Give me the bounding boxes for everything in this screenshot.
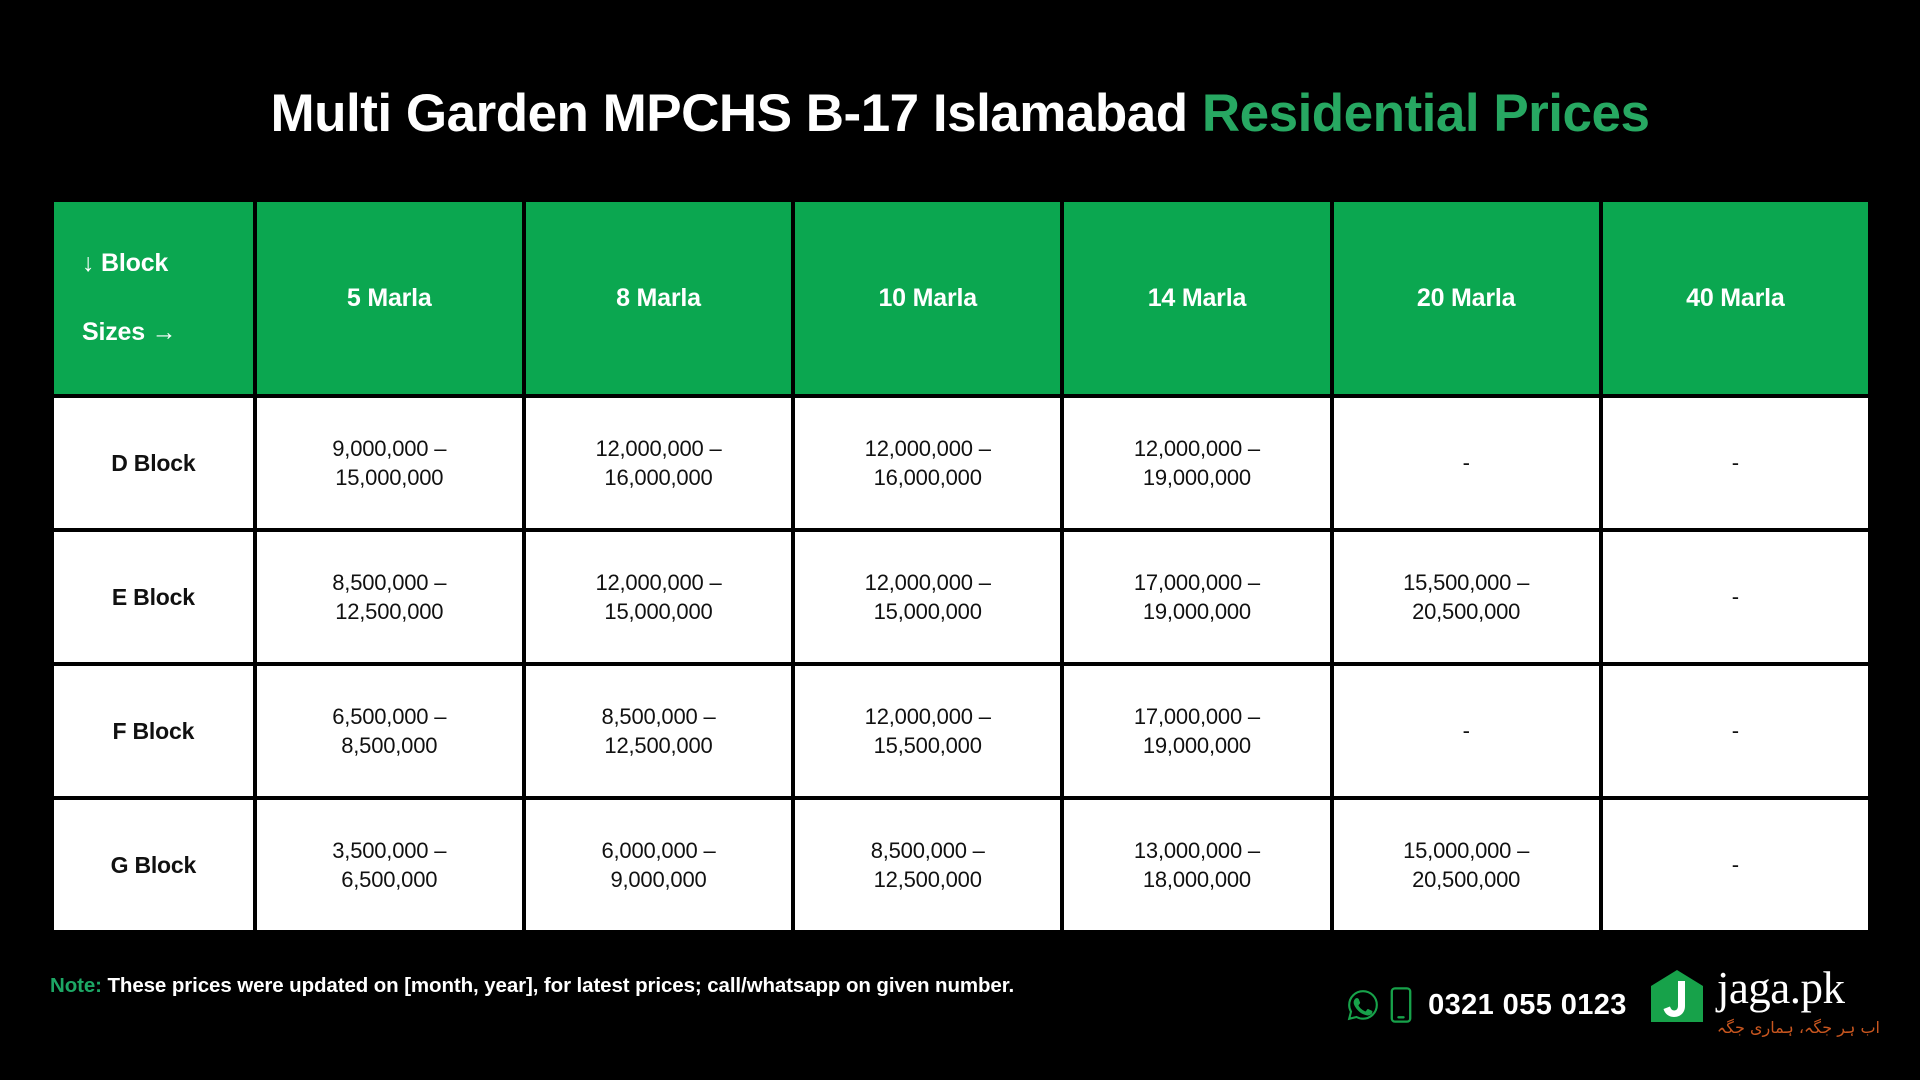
price-low: 12,000,000 –	[801, 434, 1054, 463]
price-cell: 12,000,000 –15,000,000	[526, 532, 791, 662]
poster-root: Multi Garden MPCHS B-17 Islamabad Reside…	[0, 0, 1920, 1080]
page-title: Multi Garden MPCHS B-17 Islamabad Reside…	[0, 84, 1920, 145]
header-cell-10-marla: 10 Marla	[795, 202, 1060, 394]
price-cell: 9,000,000 –15,000,000	[257, 398, 522, 528]
price-low: -	[1340, 448, 1593, 477]
price-cell: -	[1603, 800, 1868, 930]
price-low: 17,000,000 –	[1070, 702, 1323, 731]
price-high: 8,500,000	[263, 731, 516, 760]
price-cell: 17,000,000 –19,000,000	[1064, 532, 1329, 662]
brand-tagline: اب ہر جگہ، ہماری جگہ	[1717, 1018, 1880, 1037]
price-low: 12,000,000 –	[801, 568, 1054, 597]
phone-number[interactable]: 0321 055 0123	[1428, 989, 1627, 1022]
price-cell: -	[1603, 532, 1868, 662]
price-cell: 12,000,000 –19,000,000	[1064, 398, 1329, 528]
table-header-row: ↓ Block Sizes → 5 Marla 8 Marla 10 Marla…	[54, 202, 1868, 394]
price-high: 12,500,000	[532, 731, 785, 760]
price-cell: 12,000,000 –15,500,000	[795, 666, 1060, 796]
price-low: -	[1340, 716, 1593, 745]
table-row: E Block 8,500,000 –12,500,000 12,000,000…	[54, 532, 1868, 662]
table-header: ↓ Block Sizes → 5 Marla 8 Marla 10 Marla…	[54, 202, 1868, 394]
price-high: 12,500,000	[263, 597, 516, 626]
price-cell: 12,000,000 –16,000,000	[526, 398, 791, 528]
price-low: 6,500,000 –	[263, 702, 516, 731]
residential-prices-table: ↓ Block Sizes → 5 Marla 8 Marla 10 Marla…	[50, 198, 1872, 934]
price-cell: -	[1603, 398, 1868, 528]
price-low: 6,000,000 –	[532, 836, 785, 865]
price-cell: 8,500,000 –12,500,000	[257, 532, 522, 662]
title-main-text: Multi Garden MPCHS B-17 Islamabad	[271, 84, 1202, 143]
price-low: -	[1609, 716, 1862, 745]
price-high: 15,000,000	[532, 597, 785, 626]
mobile-phone-icon[interactable]	[1390, 987, 1412, 1023]
price-cell: 8,500,000 –12,500,000	[526, 666, 791, 796]
price-low: 12,000,000 –	[1070, 434, 1323, 463]
price-low: 15,000,000 –	[1340, 836, 1593, 865]
header-block-label: ↓ Block	[82, 251, 253, 276]
price-cell: -	[1334, 666, 1599, 796]
price-high: 16,000,000	[532, 463, 785, 492]
price-high: 19,000,000	[1070, 463, 1323, 492]
price-high: 15,500,000	[801, 731, 1054, 760]
title-highlight-text: Residential Prices	[1202, 84, 1650, 143]
contact-block: 0321 055 0123 jaga.pk اب ہر جگہ، ہماری ج…	[1346, 955, 1880, 1055]
price-high: 19,000,000	[1070, 731, 1323, 760]
row-label-d-block: D Block	[54, 398, 253, 528]
price-low: 12,000,000 –	[532, 568, 785, 597]
row-label-f-block: F Block	[54, 666, 253, 796]
price-high: 20,500,000	[1340, 597, 1593, 626]
price-cell: 3,500,000 –6,500,000	[257, 800, 522, 930]
header-cell-block-sizes: ↓ Block Sizes →	[54, 202, 253, 394]
price-cell: 15,500,000 –20,500,000	[1334, 532, 1599, 662]
price-cell: 8,500,000 –12,500,000	[795, 800, 1060, 930]
price-low: 9,000,000 –	[263, 434, 516, 463]
price-cell: 6,500,000 –8,500,000	[257, 666, 522, 796]
price-cell: -	[1603, 666, 1868, 796]
price-low: -	[1609, 448, 1862, 477]
jaga-house-icon	[1649, 968, 1705, 1029]
price-high: 15,000,000	[801, 597, 1054, 626]
price-high: 15,000,000	[263, 463, 516, 492]
price-cell: 12,000,000 –15,000,000	[795, 532, 1060, 662]
price-table-container: ↓ Block Sizes → 5 Marla 8 Marla 10 Marla…	[50, 198, 1872, 934]
header-cell-40-marla: 40 Marla	[1603, 202, 1868, 394]
row-label-g-block: G Block	[54, 800, 253, 930]
header-cell-20-marla: 20 Marla	[1334, 202, 1599, 394]
price-cell: -	[1334, 398, 1599, 528]
table-row: G Block 3,500,000 –6,500,000 6,000,000 –…	[54, 800, 1868, 930]
header-sizes-label: Sizes →	[82, 320, 253, 345]
header-cell-5-marla: 5 Marla	[257, 202, 522, 394]
price-low: -	[1609, 582, 1862, 611]
brand-logo[interactable]: jaga.pk اب ہر جگہ، ہماری جگہ	[1649, 966, 1880, 1037]
price-high: 20,500,000	[1340, 865, 1593, 894]
price-low: 3,500,000 –	[263, 836, 516, 865]
row-label-e-block: E Block	[54, 532, 253, 662]
price-high: 6,500,000	[263, 865, 516, 894]
table-row: F Block 6,500,000 –8,500,000 8,500,000 –…	[54, 666, 1868, 796]
footer-note: Note: These prices were updated on [mont…	[50, 974, 1014, 998]
price-cell: 17,000,000 –19,000,000	[1064, 666, 1329, 796]
table-body: D Block 9,000,000 –15,000,000 12,000,000…	[54, 398, 1868, 930]
header-cell-8-marla: 8 Marla	[526, 202, 791, 394]
price-low: 8,500,000 –	[263, 568, 516, 597]
price-cell: 12,000,000 –16,000,000	[795, 398, 1060, 528]
price-high: 19,000,000	[1070, 597, 1323, 626]
price-cell: 15,000,000 –20,500,000	[1334, 800, 1599, 930]
price-high: 18,000,000	[1070, 865, 1323, 894]
price-high: 9,000,000	[532, 865, 785, 894]
price-low: 13,000,000 –	[1070, 836, 1323, 865]
table-row: D Block 9,000,000 –15,000,000 12,000,000…	[54, 398, 1868, 528]
price-cell: 13,000,000 –18,000,000	[1064, 800, 1329, 930]
note-label: Note:	[50, 974, 102, 997]
brand-name: jaga.pk	[1717, 966, 1880, 1011]
price-low: 12,000,000 –	[801, 702, 1054, 731]
price-low: 12,000,000 –	[532, 434, 785, 463]
footer: Note: These prices were updated on [mont…	[50, 955, 1880, 1055]
note-text: These prices were updated on [month, yea…	[102, 974, 1014, 997]
whatsapp-icon[interactable]	[1346, 988, 1380, 1022]
price-high: 16,000,000	[801, 463, 1054, 492]
price-low: 8,500,000 –	[801, 836, 1054, 865]
price-low: 15,500,000 –	[1340, 568, 1593, 597]
price-low: 8,500,000 –	[532, 702, 785, 731]
price-high: 12,500,000	[801, 865, 1054, 894]
price-low: -	[1609, 850, 1862, 879]
header-cell-14-marla: 14 Marla	[1064, 202, 1329, 394]
price-cell: 6,000,000 –9,000,000	[526, 800, 791, 930]
price-low: 17,000,000 –	[1070, 568, 1323, 597]
